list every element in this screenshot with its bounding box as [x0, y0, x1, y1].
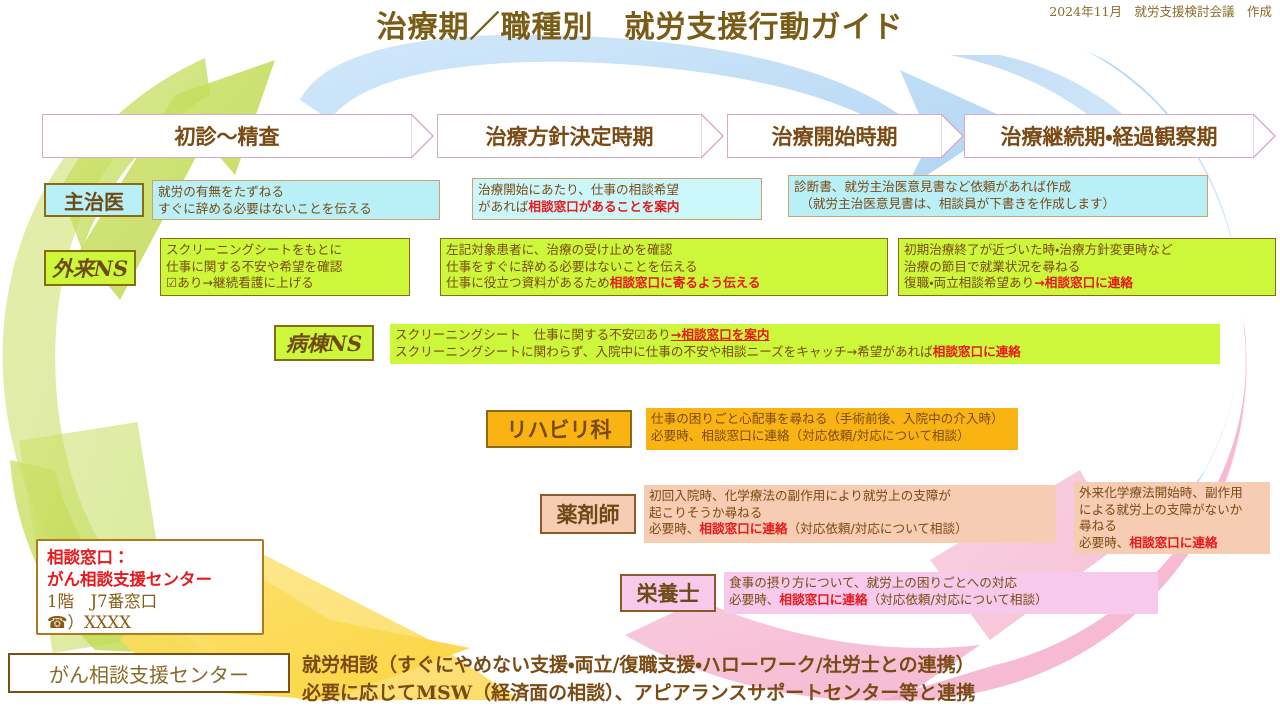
phase-label: 初診～精査 [175, 121, 280, 151]
phase-label: 治療開始時期 [772, 121, 898, 151]
chevron-right-icon [411, 114, 434, 158]
role-label: 病棟NS [286, 328, 362, 358]
slide-canvas: 治療期／職種別 就労支援行動ガイド 2024年11月 就労支援検討会議 作成 初… [0, 0, 1280, 720]
content-line: 必要時、相談窓口に連絡（対応依頼/対応について相談） [651, 428, 1013, 445]
role-chip-doctor[interactable]: 主治医 [44, 183, 144, 217]
content-box-pharmacist-1: 初回入院時、化学療法の副作用により就労上の支障が 起こりそうか尋ねる 必要時、相… [644, 485, 1056, 543]
phase-item-1[interactable]: 治療方針決定時期 [437, 114, 702, 158]
phase-label: 治療方針決定時期 [486, 121, 654, 151]
consultation-desk-card: 相談窓口： がん相談支援センター 1階 J7番窓口 ☎）XXXX [36, 539, 264, 635]
footer-chip-label: がん相談支援センター [49, 659, 249, 688]
role-chip-ward-ns[interactable]: 病棟NS [274, 325, 374, 361]
content-line: 仕事の困りごと心配事を尋ねる（手術前後、入院中の介入時） [651, 411, 1013, 428]
chevron-right-icon [1253, 114, 1276, 158]
phase-timeline: 初診～精査 治療方針決定時期 治療開始時期 治療継続期・経過観察期 [42, 114, 1274, 158]
content-line: スクリーニングシートに関わらず、入院中に仕事の不安や相談ニーズをキャッチ→希望が… [395, 344, 1215, 361]
content-box-outpatient-3: 初期治療終了が近づいた時・治療方針変更時など 治療の節目で就業状況を尋ねる 復職… [898, 238, 1276, 296]
content-box-pharmacist-2: 外来化学療法開始時、副作用 による就労上の支障がないか 尋ねる 必要時、相談窓口… [1074, 482, 1270, 554]
content-line: 診断書、就労主治医意見書など依頼があれば作成 [794, 179, 1202, 196]
content-line: 起こりそうか尋ねる [649, 505, 1051, 522]
footer-line-1: 就労相談（すぐにやめない支援・両立/復職支援・ハローワーク/社労士との連携） [302, 652, 975, 680]
footer-center-chip[interactable]: がん相談支援センター [8, 653, 290, 693]
content-line: 治療の節目で就業状況を尋ねる [904, 259, 1270, 276]
page-title: 治療期／職種別 就労支援行動ガイド [290, 2, 990, 46]
content-box-doctor-3: 診断書、就労主治医意見書など依頼があれば作成 （就労主治医意見書は、相談員が下書… [788, 175, 1208, 217]
chevron-right-icon [941, 114, 964, 158]
content-line: 外来化学療法開始時、副作用 [1079, 485, 1265, 502]
content-line: 治療開始にあたり、仕事の相談希望 [478, 182, 756, 199]
content-line: による就労上の支障がないか [1079, 502, 1265, 519]
role-chip-dietitian[interactable]: 栄養士 [620, 574, 716, 612]
desk-card-line-3: 1階 J7番窓口 [47, 591, 253, 613]
content-box-outpatient-1: スクリーニングシートをもとに 仕事に関する不安や希望を確認 ☑あり→継続看護に上… [160, 238, 410, 296]
phase-item-3[interactable]: 治療継続期・経過観察期 [964, 114, 1254, 158]
content-line: 仕事に関する不安や希望を確認 [166, 259, 404, 276]
content-line: 食事の摂り方について、就労上の困りごとへの対応 [729, 575, 1153, 592]
content-line: 復職・両立相談希望あり→相談窓口に連絡 [904, 275, 1270, 292]
desk-card-line-1: 相談窓口： [47, 547, 253, 569]
content-box-doctor-1: 就労の有無をたずねる すぐに辞める必要はないことを伝える [152, 180, 440, 220]
content-line: 必要時、相談窓口に連絡（対応依頼/対応について相談） [649, 521, 1051, 538]
role-label: リハビリ科 [507, 414, 612, 444]
content-box-dietitian-1: 食事の摂り方について、就労上の困りごとへの対応 必要時、相談窓口に連絡（対応依頼… [724, 572, 1158, 614]
desk-card-line-2: がん相談支援センター [47, 569, 253, 591]
content-line: 就労の有無をたずねる [158, 184, 434, 201]
content-box-doctor-2: 治療開始にあたり、仕事の相談希望 があれば相談窓口があることを案内 [472, 178, 762, 220]
document-meta: 2024年11月 就労支援検討会議 作成 [1049, 1, 1272, 20]
role-chip-rehab[interactable]: リハビリ科 [486, 410, 632, 448]
content-line: スクリーニングシートをもとに [166, 242, 404, 259]
role-label: 栄養士 [637, 578, 700, 608]
phase-item-2[interactable]: 治療開始時期 [727, 114, 942, 158]
content-line: 初回入院時、化学療法の副作用により就労上の支障が [649, 488, 1051, 505]
content-line: 仕事に役立つ資料があるため相談窓口に寄るよう伝える [446, 275, 882, 292]
content-line: 左記対象患者に、治療の受け止めを確認 [446, 242, 882, 259]
content-line: スクリーニングシート 仕事に関する不安☑あり→相談窓口を案内 [395, 327, 1215, 344]
content-line: 尋ねる [1079, 518, 1265, 535]
content-line: ☑あり→継続看護に上げる [166, 275, 404, 292]
content-line: 仕事をすぐに辞める必要はないことを伝える [446, 259, 882, 276]
role-label: 外来NS [52, 253, 128, 283]
desk-card-phone: ☎）XXXX [47, 612, 253, 634]
content-box-outpatient-2: 左記対象患者に、治療の受け止めを確認 仕事をすぐに辞める必要はないことを伝える … [440, 238, 888, 296]
content-line: すぐに辞める必要はないことを伝える [158, 201, 434, 218]
phase-item-0[interactable]: 初診～精査 [42, 114, 412, 158]
phase-label: 治療継続期・経過観察期 [1000, 121, 1217, 151]
chevron-right-icon [701, 114, 724, 158]
content-line: があれば相談窓口があることを案内 [478, 199, 756, 216]
role-label: 主治医 [64, 186, 124, 215]
content-box-rehab-1: 仕事の困りごと心配事を尋ねる（手術前後、入院中の介入時） 必要時、相談窓口に連絡… [646, 408, 1018, 450]
footer-description: 就労相談（すぐにやめない支援・両立/復職支援・ハローワーク/社労士との連携） 必… [302, 652, 975, 707]
content-line: （就労主治医意見書は、相談員が下書きを作成します） [794, 196, 1202, 213]
content-line: 初期治療終了が近づいた時・治療方針変更時など [904, 242, 1270, 259]
content-line: 必要時、相談窓口に連絡（対応依頼/対応について相談） [729, 592, 1153, 609]
role-label: 薬剤師 [557, 499, 620, 529]
role-chip-outpatient-ns[interactable]: 外来NS [44, 250, 136, 286]
content-line: 必要時、相談窓口に連絡 [1079, 535, 1265, 552]
footer-line-2: 必要に応じてMSW（経済面の相談）、アピアランスサポートセンター等と連携 [302, 680, 975, 708]
role-chip-pharmacist[interactable]: 薬剤師 [540, 494, 636, 534]
content-box-ward-1: スクリーニングシート 仕事に関する不安☑あり→相談窓口を案内 スクリーニングシー… [390, 324, 1220, 364]
